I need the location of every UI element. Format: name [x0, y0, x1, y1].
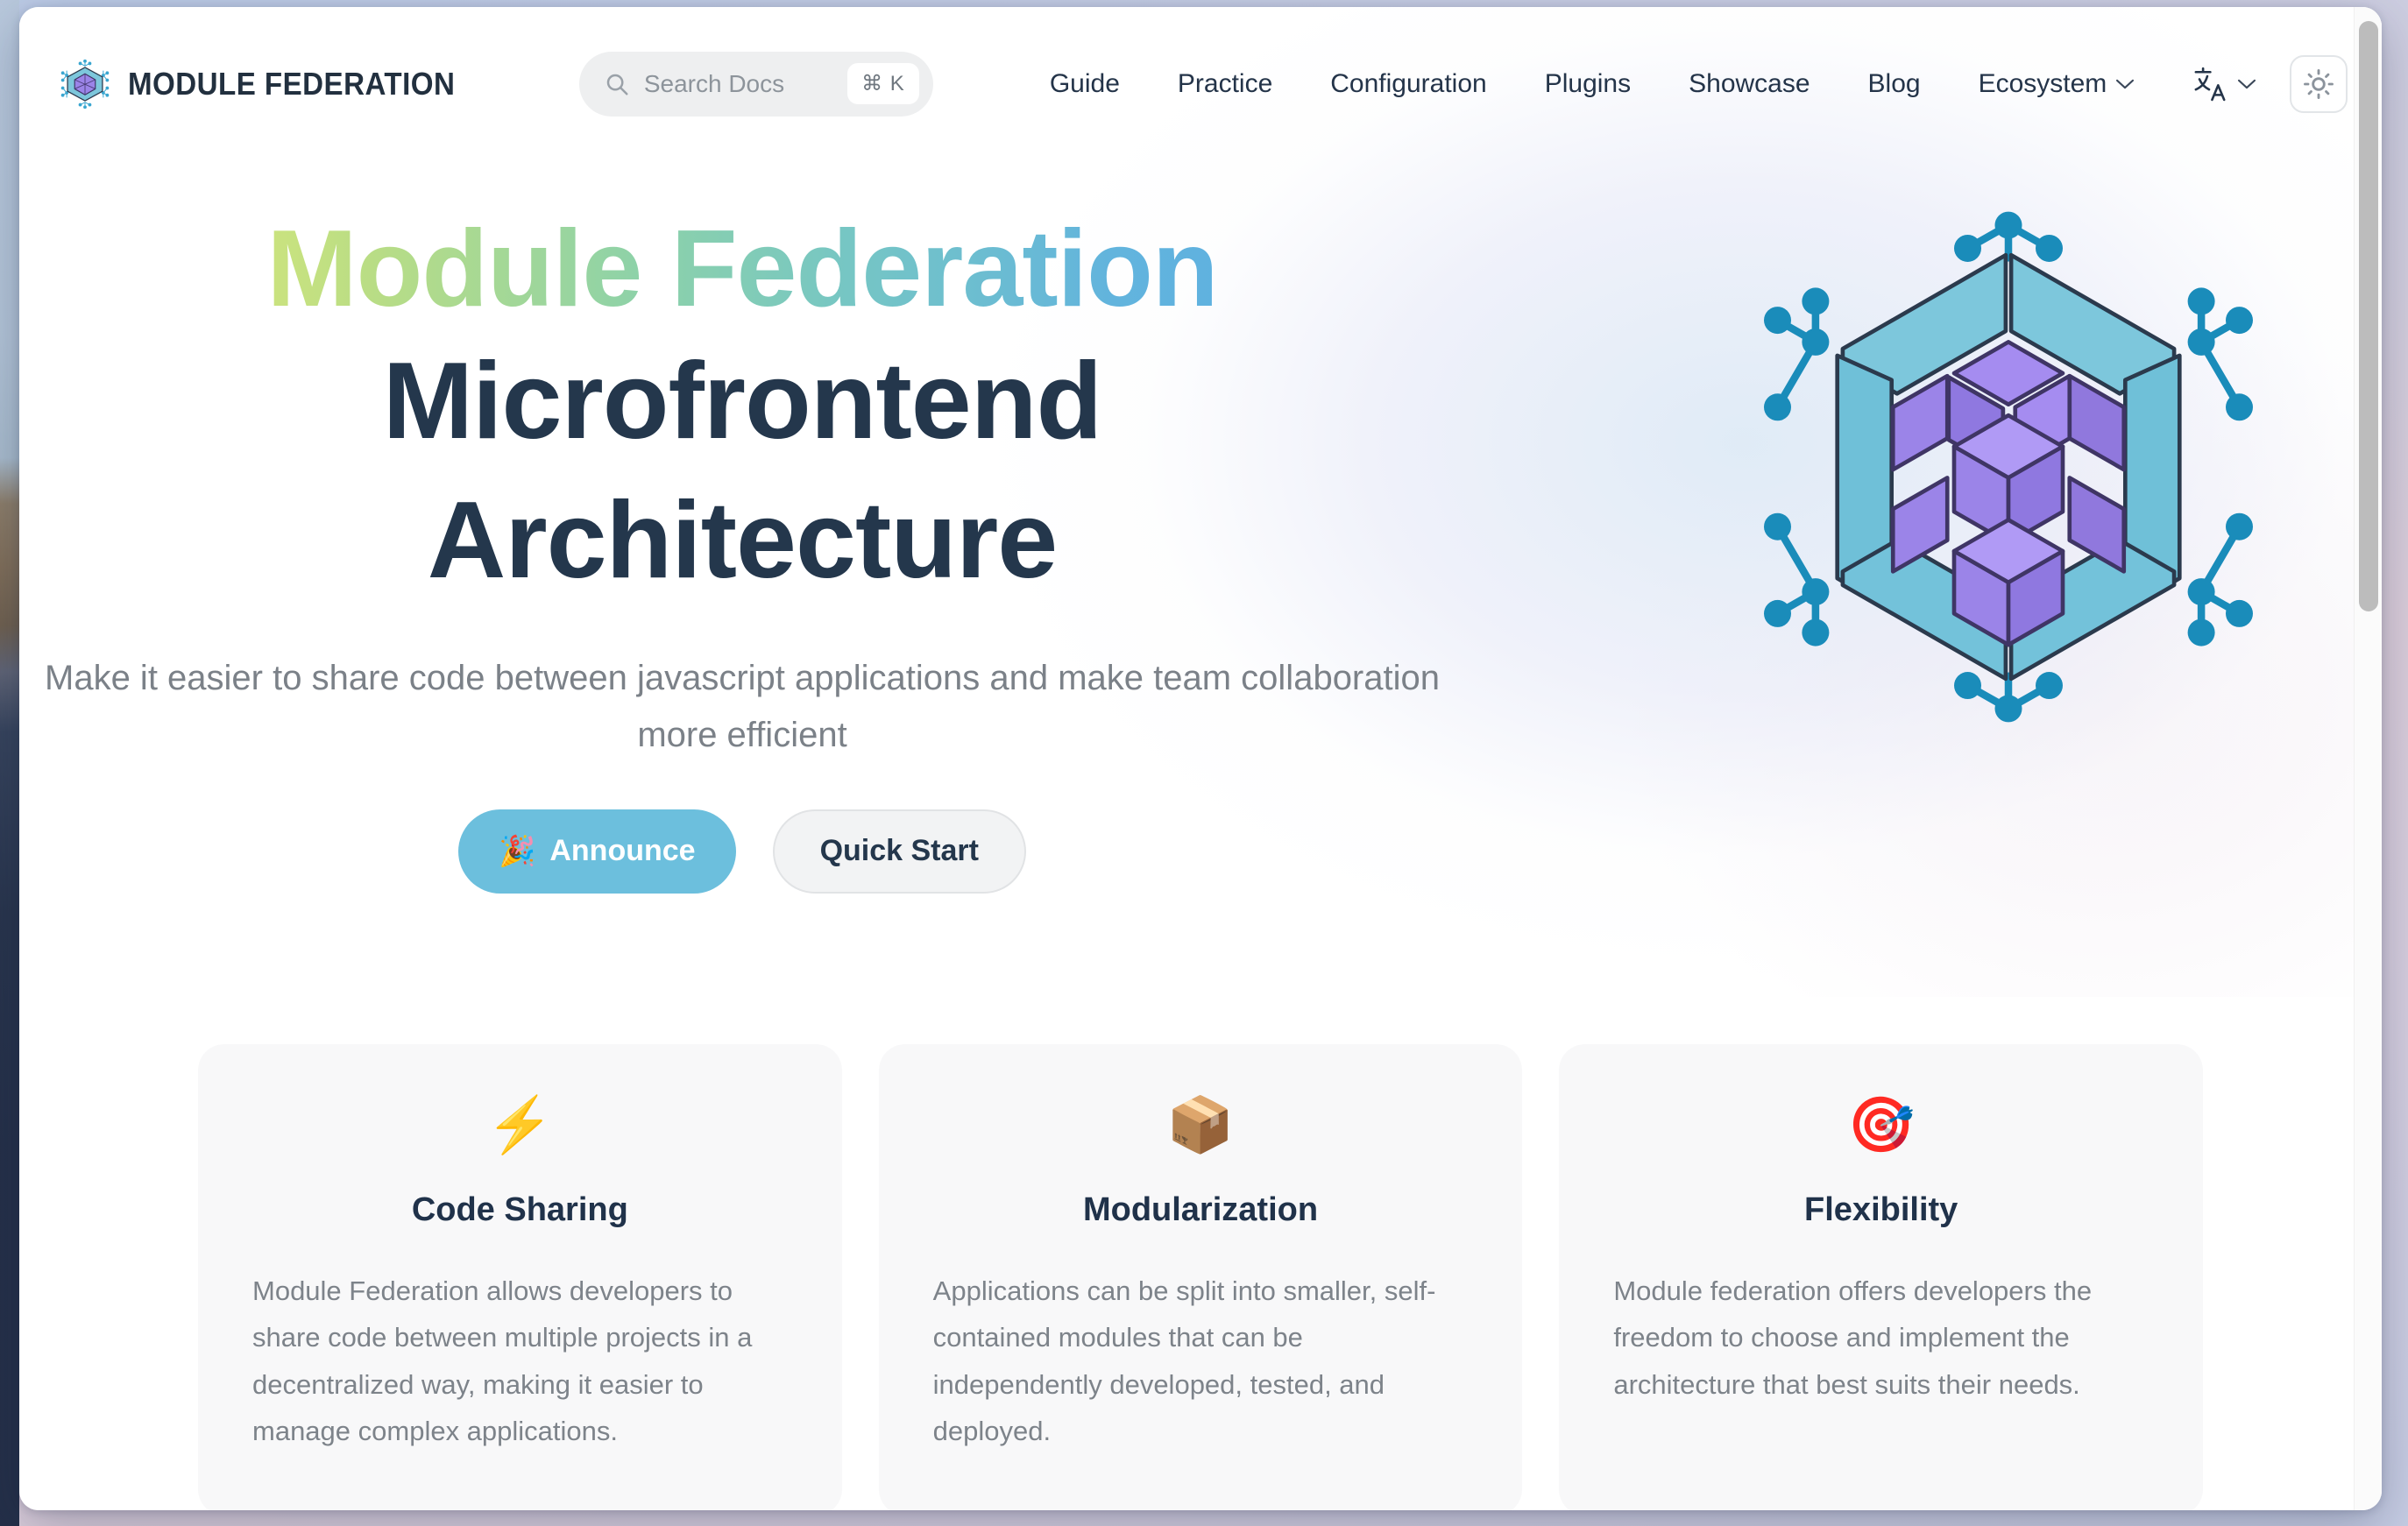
nav-link-blog[interactable]: Blog — [1839, 69, 1950, 99]
nav-link-label: Blog — [1868, 69, 1921, 99]
feature-card-title: Modularization — [933, 1191, 1469, 1229]
nav-link-label: Guide — [1050, 69, 1120, 99]
feature-card-body: Module Federation allows developers to s… — [252, 1268, 788, 1454]
announce-button-label: Announce — [549, 834, 695, 868]
announce-button[interactable]: 🎉 Announce — [458, 809, 736, 894]
target-dart-icon: 🎯 — [1613, 1099, 2149, 1153]
nav-link-guide[interactable]: Guide — [1021, 69, 1149, 99]
search-icon — [604, 71, 630, 97]
feature-card-title: Code Sharing — [252, 1191, 788, 1229]
feature-card-title: Flexibility — [1613, 1191, 2149, 1229]
browser-window: MODULE FEDERATION Search Docs ⌘ K Guide … — [19, 7, 2382, 1510]
feature-card-body: Applications can be split into smaller, … — [933, 1268, 1469, 1454]
feature-card-flexibility: 🎯 Flexibility Module federation offers d… — [1559, 1044, 2203, 1510]
nav-link-showcase[interactable]: Showcase — [1660, 69, 1838, 99]
party-popper-icon: 🎉 — [499, 834, 535, 869]
nav-link-label: Practice — [1178, 69, 1272, 99]
chevron-down-icon — [2115, 78, 2135, 90]
chevron-down-icon — [2237, 78, 2256, 90]
translate-icon — [2190, 65, 2228, 103]
theme-toggle-button[interactable] — [2290, 55, 2348, 113]
desktop-background: MODULE FEDERATION Search Docs ⌘ K Guide … — [0, 0, 2408, 1526]
feature-card-modularization: 📦 Modularization Applications can be spl… — [879, 1044, 1523, 1510]
nav-link-practice[interactable]: Practice — [1149, 69, 1301, 99]
hero-text-block: Module Federation Microfrontend Architec… — [81, 208, 1404, 894]
language-switcher[interactable] — [2164, 65, 2283, 103]
feature-cards: ⚡ Code Sharing Module Federation allows … — [19, 1044, 2382, 1510]
nav-link-label: Plugins — [1545, 69, 1631, 99]
search-input[interactable]: Search Docs ⌘ K — [579, 52, 933, 117]
scrollbar-thumb[interactable] — [2359, 21, 2378, 611]
hero-actions: 🎉 Announce Quick Start — [81, 809, 1404, 894]
nav-link-ecosystem[interactable]: Ecosystem — [1950, 69, 2164, 99]
package-box-icon: 📦 — [933, 1099, 1469, 1153]
hero-title-line-1: Microfrontend — [81, 332, 1404, 471]
hero-title-line-2: Architecture — [81, 471, 1404, 611]
nav-links: Guide Practice Configuration Plugins Sho… — [1021, 69, 2164, 99]
brand-name: MODULE FEDERATION — [128, 66, 455, 102]
nav-link-label: Ecosystem — [1979, 69, 2107, 99]
lightning-bolt-icon: ⚡ — [252, 1099, 788, 1153]
feature-card-code-sharing: ⚡ Code Sharing Module Federation allows … — [198, 1044, 842, 1510]
nav-right-actions — [2164, 55, 2382, 113]
hero-section: Module Federation Microfrontend Architec… — [19, 160, 2382, 1036]
isometric-federated-cube-icon — [1737, 195, 2280, 738]
nav-link-label: Configuration — [1330, 69, 1486, 99]
sun-icon — [2302, 67, 2335, 101]
feature-card-body: Module federation offers developers the … — [1613, 1268, 2149, 1408]
site-navbar: MODULE FEDERATION Search Docs ⌘ K Guide … — [19, 7, 2382, 160]
module-federation-cube-icon — [60, 59, 110, 110]
hero-gradient-title: Module Federation — [81, 208, 1404, 330]
hero-title: Microfrontend Architecture — [81, 332, 1404, 610]
hero-illustration — [1737, 195, 2280, 738]
desktop-wallpaper-strip — [0, 0, 19, 1526]
nav-link-label: Showcase — [1689, 69, 1810, 99]
nav-link-configuration[interactable]: Configuration — [1301, 69, 1515, 99]
search-placeholder-text: Search Docs — [644, 70, 833, 98]
quick-start-button-label: Quick Start — [820, 834, 979, 868]
search-shortcut-badge: ⌘ K — [847, 63, 919, 104]
page-viewport: MODULE FEDERATION Search Docs ⌘ K Guide … — [19, 7, 2382, 1510]
nav-link-plugins[interactable]: Plugins — [1516, 69, 1660, 99]
page-scrollbar[interactable] — [2354, 7, 2382, 1510]
quick-start-button[interactable]: Quick Start — [773, 809, 1026, 894]
hero-subtitle: Make it easier to share code between jav… — [28, 650, 1456, 764]
brand-logo-link[interactable]: MODULE FEDERATION — [60, 59, 484, 110]
